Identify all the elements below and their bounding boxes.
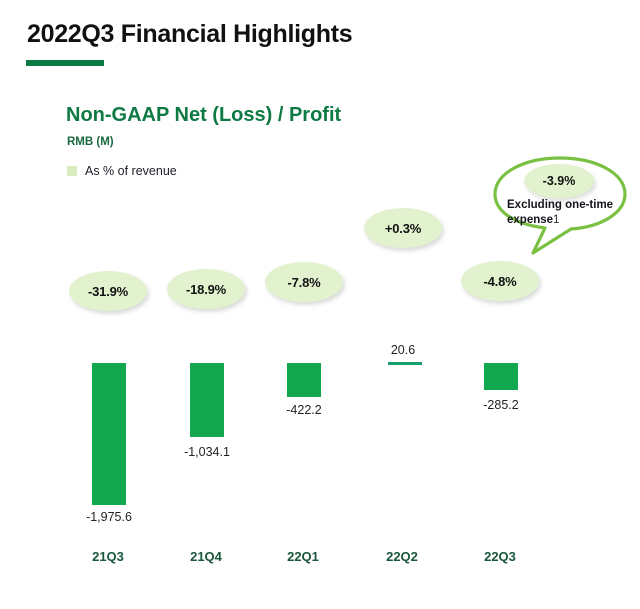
category-label-22q1: 22Q1 (253, 549, 353, 564)
bar-value-22q3: -285.2 (451, 398, 551, 412)
legend-swatch-icon (67, 166, 77, 176)
chart-title: Non-GAAP Net (Loss) / Profit (66, 104, 341, 127)
percent-bubble-22q2[interactable]: +0.3% (364, 208, 442, 248)
bar-21q3[interactable] (92, 363, 126, 505)
percent-bubble-label-22q3: -4.8% (484, 274, 517, 289)
percent-bubble-22q3[interactable]: -4.8% (461, 261, 539, 301)
category-label-22q2: 22Q2 (352, 549, 452, 564)
bar-22q3[interactable] (484, 363, 518, 390)
chart-legend: As % of revenue (67, 164, 177, 178)
percent-bubble-label-22q1: -7.8% (288, 275, 321, 290)
percent-bubble-label-21q3: -31.9% (88, 284, 128, 299)
title-underline-rule (26, 60, 104, 66)
bar-21q4[interactable] (190, 363, 224, 437)
callout-text: Excluding one-time expense1 (507, 198, 623, 228)
percent-bubble-21q3[interactable]: -31.9% (69, 271, 147, 311)
chart-unit-label: RMB (M) (67, 136, 114, 148)
bar-value-22q2: 20.6 (353, 343, 453, 357)
percent-bubble-label-22q2: +0.3% (385, 221, 421, 236)
chart-plot-area: -31.9% -1,975.6 21Q3 -18.9% -1,034.1 21Q… (0, 0, 640, 609)
percent-bubble-21q4[interactable]: -18.9% (167, 269, 245, 309)
callout-footnote-marker: 1 (553, 214, 559, 226)
percent-bubble-22q1[interactable]: -7.8% (265, 262, 343, 302)
bar-value-21q4: -1,034.1 (157, 445, 257, 459)
bar-value-22q1: -422.2 (254, 403, 354, 417)
category-label-21q3: 21Q3 (58, 549, 158, 564)
slide-canvas: 2022Q3 Financial Highlights Non-GAAP Net… (0, 0, 640, 609)
legend-label: As % of revenue (85, 164, 177, 178)
category-label-22q3: 22Q3 (450, 549, 550, 564)
callout-percent-label: -3.9% (543, 174, 576, 188)
page-title: 2022Q3 Financial Highlights (27, 20, 352, 49)
callout-excluding-one-time-expense[interactable]: -3.9% Excluding one-time expense1 (493, 156, 628, 234)
callout-percent-bubble: -3.9% (524, 164, 594, 198)
category-label-21q4: 21Q4 (156, 549, 256, 564)
bar-22q2[interactable] (388, 362, 422, 365)
percent-bubble-label-21q4: -18.9% (186, 282, 226, 297)
bar-value-21q3: -1,975.6 (59, 510, 159, 524)
bar-22q1[interactable] (287, 363, 321, 397)
callout-text-label: Excluding one-time expense (507, 199, 613, 226)
